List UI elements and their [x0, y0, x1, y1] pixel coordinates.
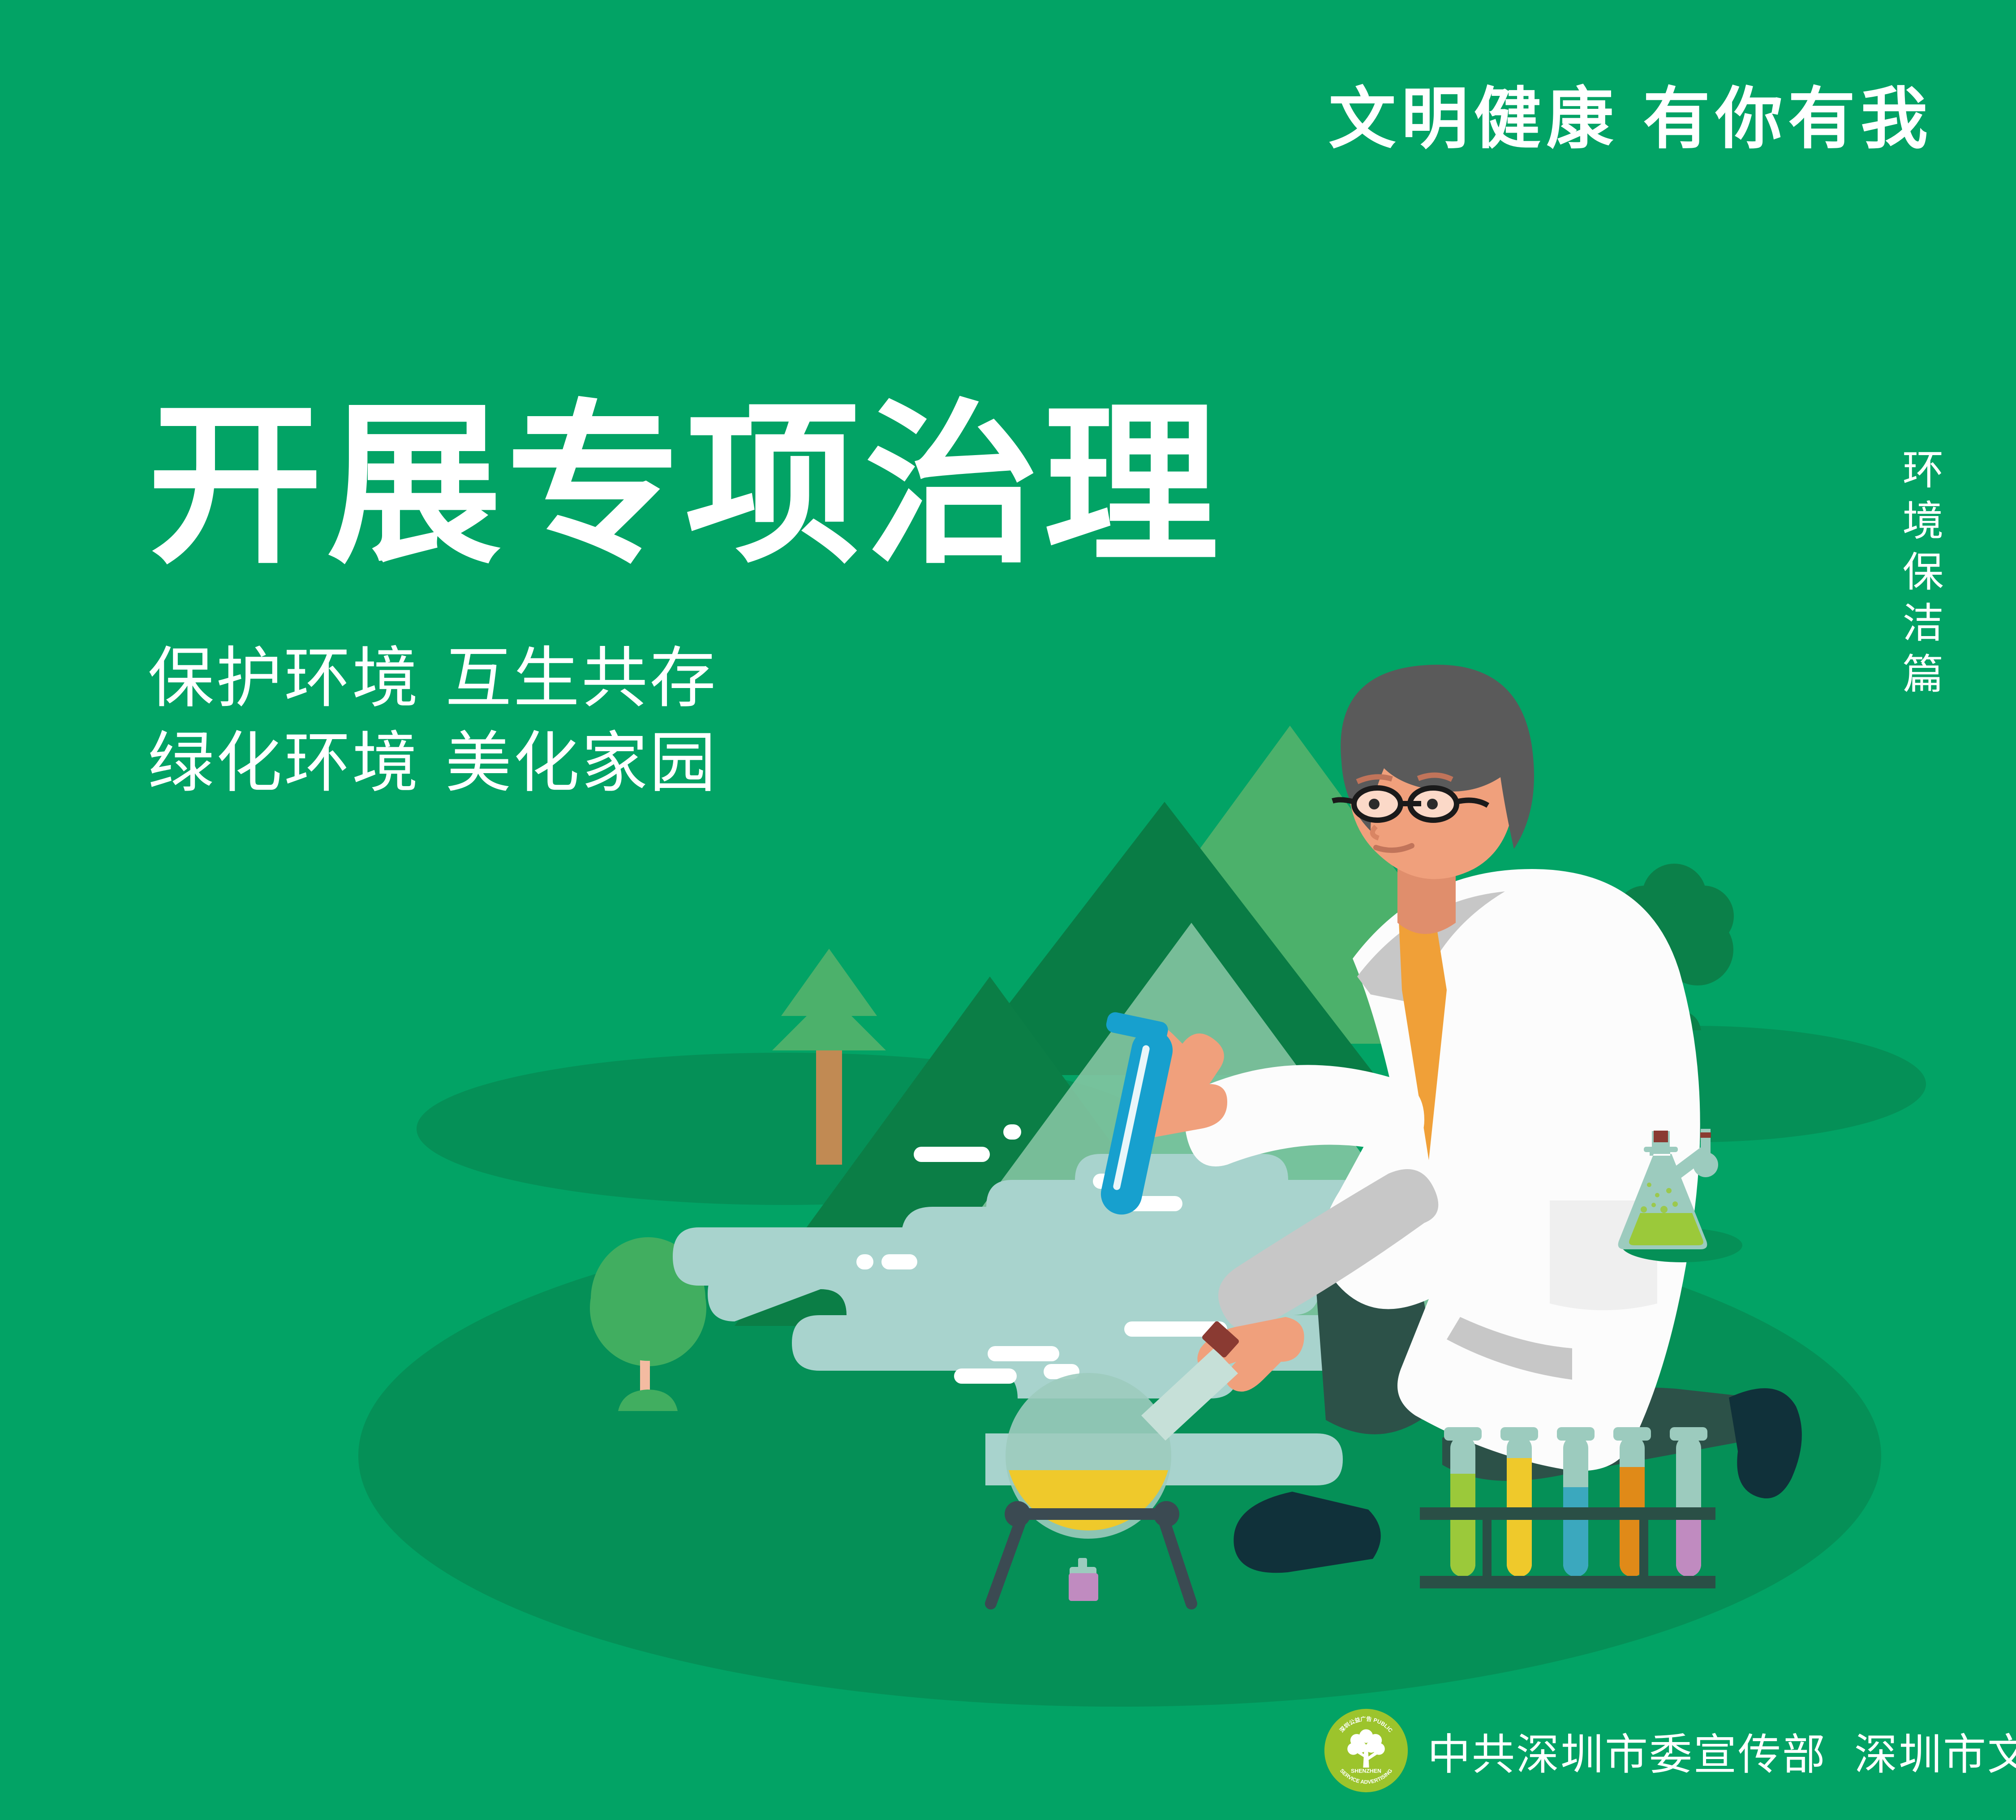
eyebrow-right — [1418, 775, 1452, 779]
test-tube — [1670, 1427, 1707, 1577]
vertical-section-label: 环境保洁篇 — [1899, 448, 1940, 703]
subtitle-1-b: 互生共存 — [445, 641, 718, 715]
water-highlight — [1044, 1364, 1079, 1379]
shoe-right — [1729, 1388, 1802, 1498]
water-highlight — [881, 1254, 917, 1269]
water-highlight — [954, 1368, 1017, 1384]
water-highlight — [914, 1147, 990, 1162]
ground-ellipse-right — [1460, 1026, 1926, 1142]
scientist-figure — [1129, 665, 1802, 1573]
test-tube-rack — [1395, 1427, 1715, 1612]
subtitle-line-1: 保护环境互生共存 — [148, 636, 718, 721]
subtitle-line-2: 绿化环境美化家园 — [148, 721, 718, 805]
lab-coat — [1322, 869, 1700, 1471]
subtitle-2-b: 美化家园 — [445, 726, 718, 800]
sidearm-bulb — [1693, 1152, 1718, 1177]
trousers-front-leg — [1442, 1387, 1762, 1481]
flask-stand — [991, 1514, 1191, 1604]
flask-liquid-green — [1629, 1213, 1703, 1245]
ground-ellipse — [358, 1205, 1881, 1707]
water-pond — [673, 1124, 1472, 1485]
ground-ellipse-far — [417, 1053, 1151, 1205]
alcohol-burner — [1069, 1558, 1098, 1601]
blue-sample-test-tube — [1097, 1011, 1176, 1218]
shenzhen-psa-logo-icon: 深圳公益广告 PUBLIC SERVICE ADVERTISING SHENZH… — [1324, 1708, 1409, 1793]
lab-coat-pocket — [1550, 1200, 1657, 1310]
lab-coat-shadow — [1447, 1317, 1572, 1380]
nose — [1372, 826, 1379, 838]
erlenmeyer-flask-with-sidearm — [1618, 1129, 1742, 1262]
coat-sleeve-upper-arm — [1185, 1065, 1424, 1166]
subtitle-1-a: 保护环境 — [148, 641, 420, 715]
mountain-light-front — [878, 923, 1505, 1348]
water-highlight — [988, 1346, 1059, 1361]
water-highlight — [1124, 1321, 1227, 1337]
rack-bottom-bar — [1420, 1576, 1715, 1588]
trousers-back-leg — [1312, 1226, 1442, 1435]
poster-canvas: 文明健康 有你有我 开展专项治理 保护环境互生共存 绿化环境美化家园 环境保洁篇 — [0, 0, 2016, 1820]
hand-holding-tube — [1129, 1024, 1227, 1138]
water-highlight — [856, 1254, 873, 1269]
water-highlight — [1106, 1196, 1182, 1211]
mountain-dark-center — [735, 977, 1245, 1326]
top-slogan: 文明健康 有你有我 — [1328, 85, 1933, 152]
lab-coat-shadow — [1357, 891, 1505, 1003]
page-title: 开展专项治理 — [148, 394, 1223, 578]
flask-body — [1618, 1149, 1707, 1249]
flask-cork — [1201, 1320, 1240, 1358]
water-highlight — [1003, 1124, 1021, 1140]
footer-org-2: 深圳市文明办 — [1854, 1731, 2016, 1779]
water-highlight — [1246, 1321, 1264, 1337]
shoe-left — [1234, 1492, 1380, 1573]
flask-liquid — [1009, 1470, 1168, 1531]
subtitle-2-a: 绿化环境 — [148, 726, 420, 800]
mountain-dark-right — [954, 802, 1375, 1075]
water-highlight — [1093, 1174, 1133, 1189]
sidearm-tube — [1668, 1145, 1712, 1182]
subtitle-block: 保护环境互生共存 绿化环境美化家园 — [148, 636, 718, 806]
hand-extended — [1197, 1317, 1304, 1392]
round-tree-left — [590, 1237, 706, 1411]
hair — [1341, 665, 1534, 849]
test-tube — [1444, 1427, 1482, 1577]
rack-top-bar — [1420, 1507, 1715, 1520]
head — [1348, 676, 1515, 879]
flask-cork — [1654, 1131, 1668, 1142]
tie — [1397, 878, 1447, 1160]
eyebrow-left — [1357, 777, 1392, 782]
mouth — [1376, 846, 1412, 850]
neck — [1397, 842, 1456, 934]
pine-tree — [772, 949, 886, 1165]
test-tube — [1500, 1427, 1538, 1577]
glasses-icon — [1333, 788, 1488, 820]
coat-sleeve-lower-arm — [1218, 1169, 1438, 1330]
footer-org-1: 中共深圳市委宣传部 — [1427, 1731, 1827, 1779]
flask-neck — [1141, 1348, 1238, 1441]
test-tube — [1613, 1427, 1651, 1577]
footer-organizations: 中共深圳市委宣传部深圳市文明办 — [1427, 1720, 2016, 1782]
round-bottom-flask-assembly — [950, 1320, 1240, 1625]
svg-text:SHENZHEN: SHENZHEN — [1351, 1768, 1381, 1774]
cloud-tree-right — [1615, 864, 1734, 1030]
flask-bulb — [1006, 1373, 1171, 1539]
mountain-mid-right — [1057, 726, 1523, 1044]
sidearm-cork — [1700, 1132, 1711, 1138]
test-tube — [1557, 1427, 1595, 1577]
rack-leg — [1483, 1507, 1492, 1586]
rack-leg — [1639, 1507, 1648, 1586]
footer-bar: 深圳公益广告 PUBLIC SERVICE ADVERTISING SHENZH… — [1324, 1708, 2016, 1793]
illustration-scene — [0, 0, 2016, 1820]
